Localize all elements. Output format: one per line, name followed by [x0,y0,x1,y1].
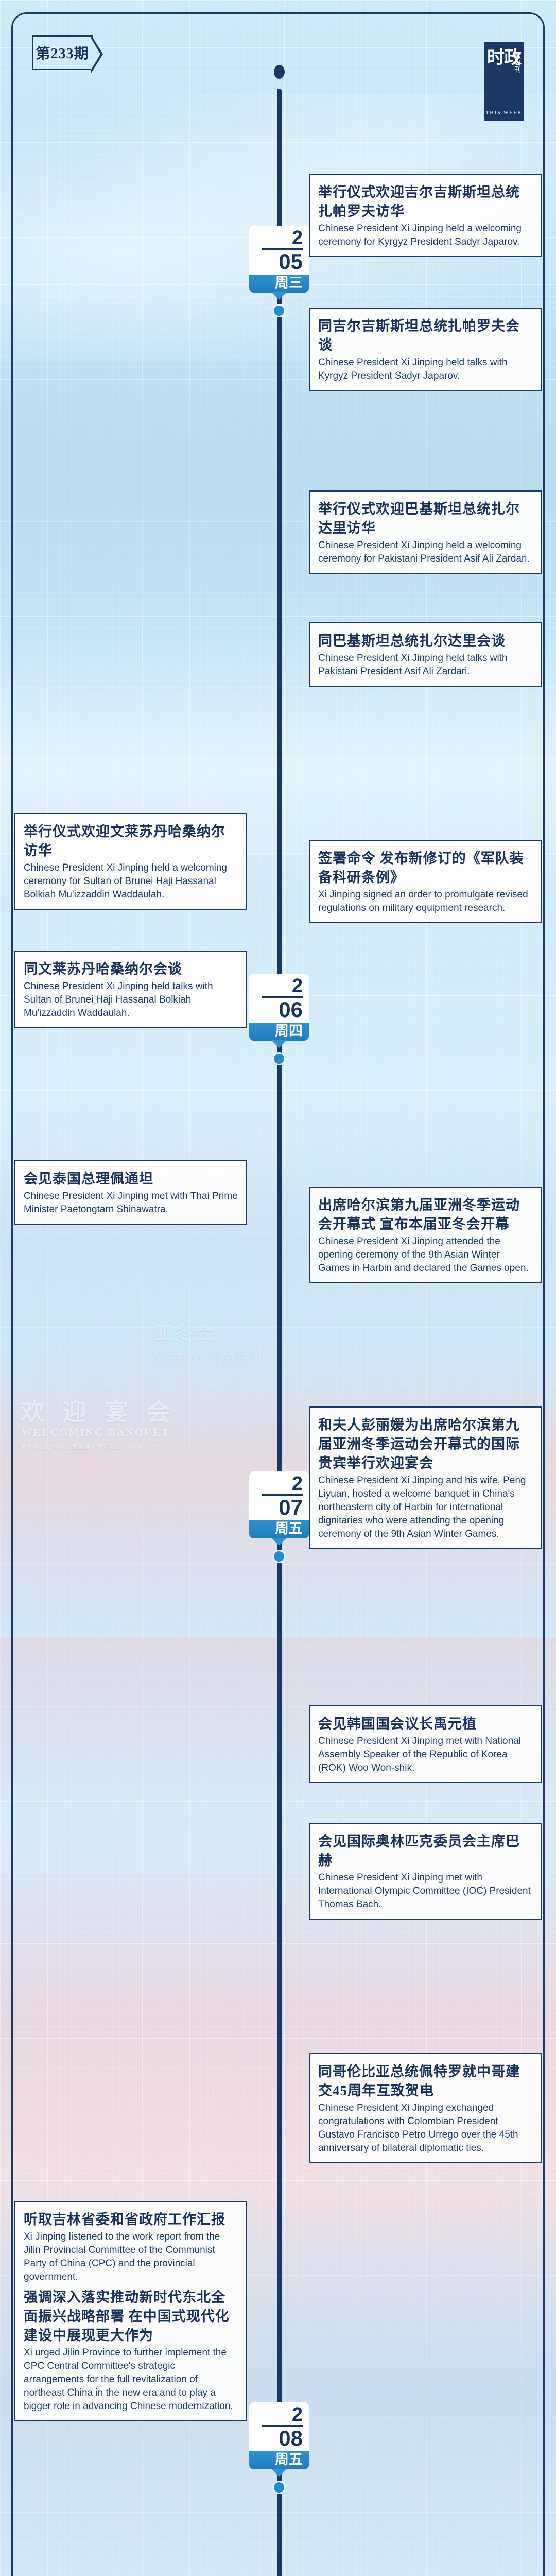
date-weekday: 周五 [249,1520,309,1538]
timeline-node [272,1550,286,1563]
issue-badge: 第233期 [32,35,93,70]
date-chip-arrow [271,2469,287,2477]
event-title-cn: 签署命令 发布新修订的《军队装备科研条例》 [318,849,532,887]
event-card[interactable]: 和夫人彭丽媛为出席哈尔滨第九届亚洲冬季运动会开幕式的国际贵宾举行欢迎宴会 Chi… [309,1406,542,1549]
infographic-page: 欢 迎 宴 会 WELCOMING BANQUET 哈尔滨2025年第九届亚洲冬… [0,0,556,2576]
event-desc-en: Chinese President Xi Jinping met with Th… [24,1190,238,1216]
event-card[interactable]: 举行仪式欢迎文莱苏丹哈桑纳尔访华 Chinese President Xi Ji… [14,813,247,910]
event-desc-en: Chinese President Xi Jinping held talks … [24,980,238,1020]
date-chip-body: 2 05 [249,226,309,275]
date-month: 2 [255,977,303,995]
brand-logo: 时政 微周刊 THIS WEEK [484,42,524,121]
bg-harbin-en: Games Harbin [154,1349,264,1364]
event-card[interactable]: 听取吉林省委和省政府工作汇报 Xi Jinping listened to th… [14,2201,247,2421]
date-chip-0208: 2 08 周五 [249,2402,309,2469]
timeline-node [272,1052,286,1065]
date-chip-arrow [271,1040,287,1048]
date-chip-body: 2 06 [249,974,309,1023]
event-card[interactable]: 举行仪式欢迎吉尔吉斯斯坦总统扎帕罗夫访华 Chinese President X… [309,174,542,257]
date-month: 2 [255,2405,303,2424]
event-desc-en: Chinese President Xi Jinping held a welc… [318,539,532,566]
timeline-node [272,2481,286,2494]
event-title-cn: 出席哈尔滨第九届亚洲冬季运动会开幕式 宣布本届亚冬会开幕 [318,1196,532,1234]
date-chip-0205: 2 05 周三 [249,226,309,293]
date-day: 08 [255,2428,303,2449]
date-weekday: 周三 [249,275,309,293]
brand-sub-text: 微周刊 [513,53,521,73]
event-title-cn: 同巴基斯坦总统扎尔达里会谈 [318,632,532,651]
event-title-cn: 听取吉林省委和省政府工作汇报 [24,2210,238,2229]
event-card[interactable]: 同巴基斯坦总统扎尔达里会谈 Chinese President Xi Jinpi… [309,622,542,687]
event-card[interactable]: 同哥伦比亚总统佩特罗就中哥建交45周年互致贺电 Chinese Presiden… [309,2053,542,2163]
date-month: 2 [255,229,303,247]
event-title-cn: 会见韩国国会议长禹元植 [318,1715,532,1734]
timeline-node [272,304,286,317]
event-card[interactable]: 出席哈尔滨第九届亚洲冬季运动会开幕式 宣布本届亚冬会开幕 Chinese Pre… [309,1187,542,1283]
event-title-cn: 会见泰国总理佩通坦 [24,1170,238,1189]
date-weekday: 周五 [249,2451,309,2469]
event-desc-en-2: Xi urged Jilin Province to further imple… [24,2346,238,2413]
date-weekday: 周四 [249,1023,309,1041]
event-card[interactable]: 举行仪式欢迎巴基斯坦总统扎尔达里访华 Chinese President Xi … [309,490,542,574]
date-day: 07 [255,1497,303,1518]
event-desc-en: Chinese President Xi Jinping held a welc… [318,222,532,249]
event-card[interactable]: 会见韩国国会议长禹元植 Chinese President Xi Jinping… [309,1705,542,1783]
timeline-axis [277,89,282,2576]
event-desc-en: Chinese President Xi Jinping held talks … [318,652,532,679]
event-title-cn: 和夫人彭丽媛为出席哈尔滨第九届亚洲冬季运动会开幕式的国际贵宾举行欢迎宴会 [318,1416,532,1473]
bg-banquet-subtitle: 哈尔滨2025年第九届亚洲冬季运动会 Harbin 2025 [22,1443,160,1451]
date-chip-0207: 2 07 周五 [249,1471,309,1538]
event-desc-en: Chinese President Xi Jinping attended th… [318,1235,532,1275]
date-chip-0206: 2 06 周四 [249,974,309,1041]
date-chip-body: 2 08 [249,2402,309,2451]
date-chip-arrow [271,292,287,300]
event-desc-en: Chinese President Xi Jinping exchanged c… [318,2102,532,2155]
event-desc-en: Xi Jinping listened to the work report f… [24,2230,238,2284]
date-month: 2 [255,1475,303,1493]
date-day: 06 [255,999,303,1021]
date-chip-arrow [271,1538,287,1546]
brand-english-text: THIS WEEK [485,110,522,116]
timeline-start-dot [274,65,285,79]
event-title-cn-2: 强调深入落实推动新时代东北全面振兴战略部署 在中国式现代化建设中展现更大作为 [24,2288,238,2345]
event-title-cn: 同哥伦比亚总统佩特罗就中哥建交45周年互致贺电 [318,2062,532,2100]
issue-label: 第233期 [36,42,89,63]
bg-banquet-title-cn: 欢 迎 宴 会 [21,1394,177,1428]
event-desc-en: Chinese President Xi Jinping met with In… [318,1871,532,1911]
event-desc-en: Chinese President Xi Jinping held talks … [318,356,532,383]
event-card[interactable]: 会见泰国总理佩通坦 Chinese President Xi Jinping m… [14,1160,247,1225]
event-desc-en: Chinese President Xi Jinping met with Na… [318,1735,532,1775]
bg-harbin-cn: 亚冬会 [154,1319,216,1344]
bg-banquet-title-en: WELCOMING BANQUET [22,1427,170,1439]
event-title-cn: 举行仪式欢迎文莱苏丹哈桑纳尔访华 [24,822,238,860]
event-desc-en: Chinese President Xi Jinping and his wif… [318,1474,532,1541]
event-title-cn: 会见国际奥林匹克委员会主席巴赫 [318,1832,532,1870]
event-card[interactable]: 同文莱苏丹哈桑纳尔会谈 Chinese President Xi Jinping… [14,951,247,1028]
event-desc-en: Xi Jinping signed an order to promulgate… [318,888,532,915]
event-desc-en: Chinese President Xi Jinping held a welc… [24,861,238,902]
date-day: 05 [255,251,303,273]
event-title-cn: 同吉尔吉斯斯坦总统扎帕罗夫会谈 [318,317,532,355]
event-card[interactable]: 会见国际奥林匹克委员会主席巴赫 Chinese President Xi Jin… [309,1823,542,1920]
event-card[interactable]: 签署命令 发布新修订的《军队装备科研条例》 Xi Jinping signed … [309,840,542,923]
event-card[interactable]: 同吉尔吉斯斯坦总统扎帕罗夫会谈 Chinese President Xi Jin… [309,308,542,391]
event-title-cn: 举行仪式欢迎巴基斯坦总统扎尔达里访华 [318,500,532,538]
date-chip-body: 2 07 [249,1471,309,1520]
event-title-cn: 同文莱苏丹哈桑纳尔会谈 [24,960,238,979]
event-title-cn: 举行仪式欢迎吉尔吉斯斯坦总统扎帕罗夫访华 [318,183,532,221]
